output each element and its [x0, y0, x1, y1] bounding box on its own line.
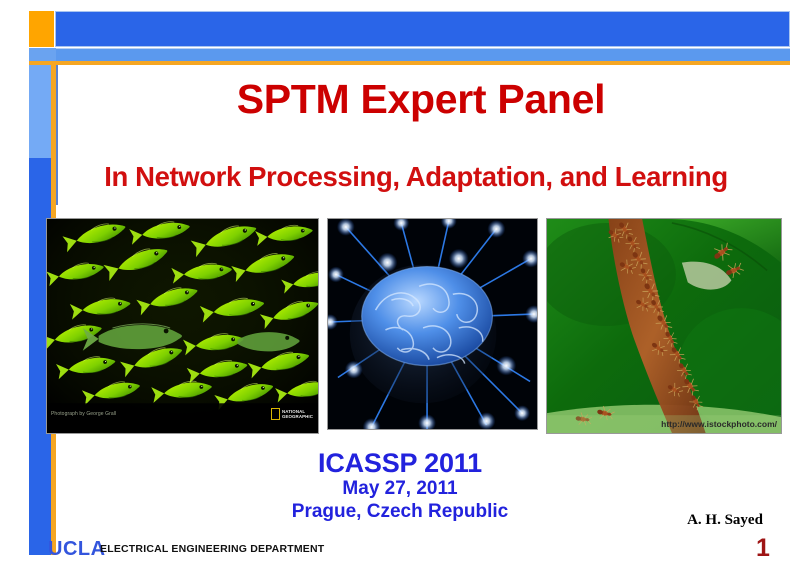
presentation-slide: SPTM Expert Panel In Network Processing,… [0, 0, 800, 565]
slide-subtitle: In Network Processing, Adaptation, and L… [46, 162, 786, 192]
slide-title: SPTM Expert Panel [60, 78, 782, 121]
national-geographic-logo: NATIONAL GEOGRAPHIC [271, 408, 313, 420]
header-orange-rule [29, 61, 790, 65]
neural-brain-illustration [328, 219, 537, 429]
page-number: 1 [748, 534, 778, 563]
author-name: A. H. Sayed [660, 512, 790, 529]
conference-info: ICASSP 2011 May 27, 2011 Prague, Czech R… [150, 448, 650, 524]
natgeo-line-2: GEOGRAPHIC [282, 414, 313, 419]
school-of-fish-illustration [47, 219, 318, 433]
header-blue-banner [55, 11, 790, 47]
ant-colony-illustration [547, 219, 781, 433]
school-of-fish-photo: Photograph by George Grall NATIONAL GEOG… [46, 218, 319, 434]
sidebar-spine-light-blue [29, 65, 51, 160]
neural-brain-photo [327, 218, 538, 430]
header-orange-block [29, 11, 54, 47]
department-name: ELECTRICAL ENGINEERING DEPARTMENT [100, 543, 324, 555]
conference-location: Prague, Czech Republic [150, 501, 650, 524]
conference-date: May 27, 2011 [150, 478, 650, 501]
conference-name: ICASSP 2011 [150, 448, 650, 478]
photo-source-url: http://www.istockphoto.com/ [661, 419, 777, 429]
photo-credit-text: Photograph by George Grall [51, 411, 116, 417]
ucla-logo: UCLA [48, 538, 106, 561]
national-geographic-wordmark: NATIONAL GEOGRAPHIC [282, 409, 313, 419]
ant-colony-photo: http://www.istockphoto.com/ [546, 218, 782, 434]
header-light-blue-strip-inner [56, 48, 790, 62]
national-geographic-rect-icon [271, 408, 280, 420]
image-row: Photograph by George Grall NATIONAL GEOG… [46, 218, 782, 434]
